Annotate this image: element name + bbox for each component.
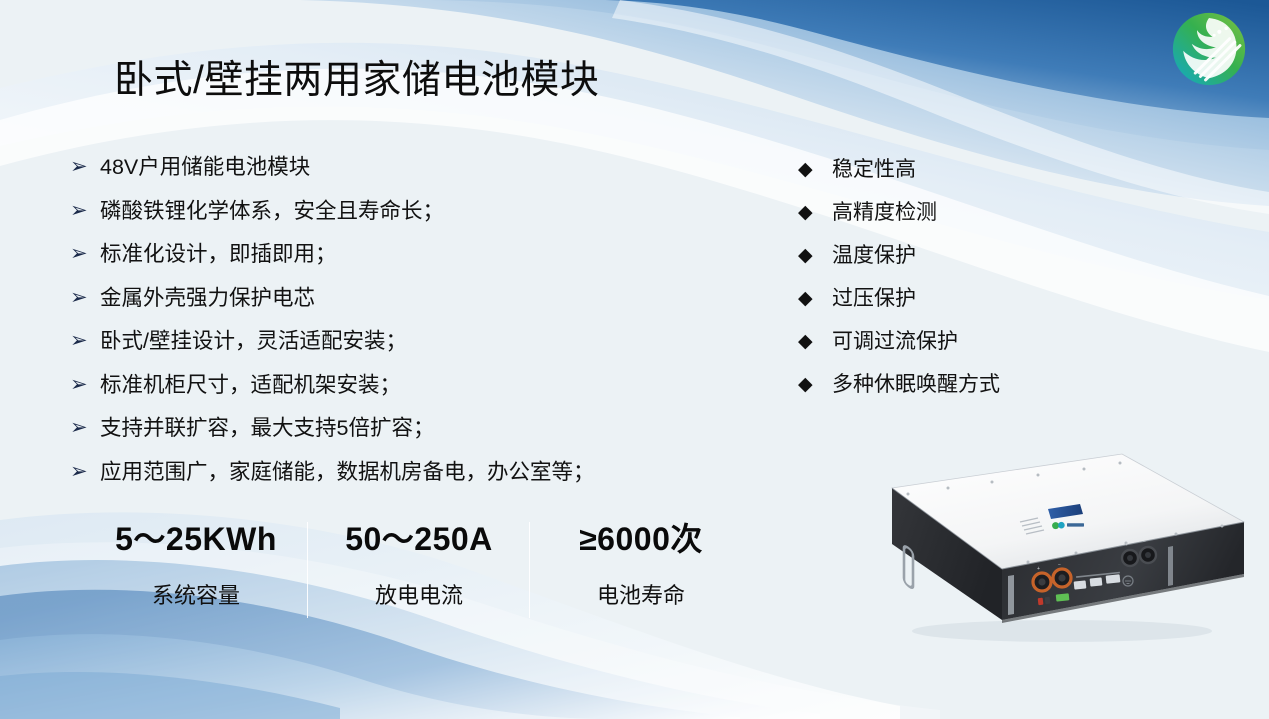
company-logo [1166, 6, 1252, 92]
diamond-bullet-icon: ◆ [798, 327, 832, 357]
arrow-bullet-icon: ➢ [70, 196, 100, 226]
arrow-bullet-icon: ➢ [70, 326, 100, 356]
stat-value: 50～250A [308, 516, 530, 562]
diamond-bullet-icon: ◆ [798, 155, 832, 185]
list-item: ➢ 应用范围广，家庭储能，数据机房备电，办公室等； [70, 457, 710, 501]
diamond-bullet-icon: ◆ [798, 241, 832, 271]
stat-label: 电池寿命 [530, 581, 752, 611]
arrow-bullet-icon: ➢ [70, 283, 100, 313]
page-title: 卧式/壁挂两用家储电池模块 [114, 57, 599, 105]
list-item-label: 标准化设计，即插即用； [100, 239, 710, 269]
svg-text:−: − [1143, 539, 1146, 545]
product-image: + − + − [852, 448, 1250, 648]
list-item: ◆ 稳定性高 [798, 155, 1128, 198]
stat-item: ≥6000次 电池寿命 [530, 516, 752, 611]
list-item-label: 标准机柜尺寸，适配机架安装； [100, 370, 710, 400]
list-item-label: 支持并联扩容，最大支持5倍扩容； [100, 413, 710, 443]
list-item-label: 多种休眠唤醒方式 [832, 370, 1128, 400]
list-item: ➢ 标准机柜尺寸，适配机架安装； [70, 370, 710, 414]
list-item-label: 稳定性高 [832, 155, 1128, 185]
svg-text:+: + [1125, 542, 1128, 548]
protection-list: ◆ 稳定性高 ◆ 高精度检测 ◆ 温度保护 ◆ 过压保护 ◆ 可调过流保护 ◆ … [798, 155, 1128, 413]
stat-label: 系统容量 [85, 581, 307, 611]
list-item: ➢ 48V户用储能电池模块 [70, 152, 710, 196]
list-item-label: 48V户用储能电池模块 [100, 152, 710, 182]
svg-text:−: − [1058, 562, 1061, 568]
list-item-label: 金属外壳强力保护电芯 [100, 283, 710, 313]
stat-value: 5～25KWh [85, 516, 307, 562]
list-item-label: 磷酸铁锂化学体系，安全且寿命长； [100, 196, 710, 226]
stat-label: 放电电流 [308, 581, 530, 611]
list-item: ➢ 支持并联扩容，最大支持5倍扩容； [70, 413, 710, 457]
list-item-label: 高精度检测 [832, 198, 1128, 228]
slide-canvas: 卧式/壁挂两用家储电池模块 ➢ 48V户用储能电池模块 ➢ 磷酸铁锂化学体系，安… [0, 0, 1269, 719]
diamond-bullet-icon: ◆ [798, 284, 832, 314]
feature-list: ➢ 48V户用储能电池模块 ➢ 磷酸铁锂化学体系，安全且寿命长； ➢ 标准化设计… [70, 152, 710, 500]
arrow-bullet-icon: ➢ [70, 457, 100, 487]
list-item: ➢ 磷酸铁锂化学体系，安全且寿命长； [70, 196, 710, 240]
list-item-label: 卧式/壁挂设计，灵活适配安装； [100, 326, 710, 356]
list-item: ◆ 过压保护 [798, 284, 1128, 327]
list-item: ➢ 卧式/壁挂设计，灵活适配安装； [70, 326, 710, 370]
stat-value: ≥6000次 [530, 516, 752, 562]
arrow-bullet-icon: ➢ [70, 413, 100, 443]
list-item: ◆ 多种休眠唤醒方式 [798, 370, 1128, 413]
stat-item: 5～25KWh 系统容量 [85, 516, 307, 611]
list-item: ➢ 标准化设计，即插即用； [70, 239, 710, 283]
arrow-bullet-icon: ➢ [70, 152, 100, 182]
list-item: ◆ 可调过流保护 [798, 327, 1128, 370]
list-item: ◆ 温度保护 [798, 241, 1128, 284]
list-item-label: 过压保护 [832, 284, 1128, 314]
list-item-label: 可调过流保护 [832, 327, 1128, 357]
arrow-bullet-icon: ➢ [70, 370, 100, 400]
list-item: ➢ 金属外壳强力保护电芯 [70, 283, 710, 327]
arrow-bullet-icon: ➢ [70, 239, 100, 269]
stat-item: 50～250A 放电电流 [308, 516, 530, 611]
stats-row: 5～25KWh 系统容量 50～250A 放电电流 ≥6000次 电池寿命 [85, 516, 765, 620]
diamond-bullet-icon: ◆ [798, 370, 832, 400]
list-item-label: 应用范围广，家庭储能，数据机房备电，办公室等； [100, 457, 710, 487]
diamond-bullet-icon: ◆ [798, 198, 832, 228]
list-item: ◆ 高精度检测 [798, 198, 1128, 241]
list-item-label: 温度保护 [832, 241, 1128, 271]
svg-text:+: + [1037, 566, 1040, 572]
